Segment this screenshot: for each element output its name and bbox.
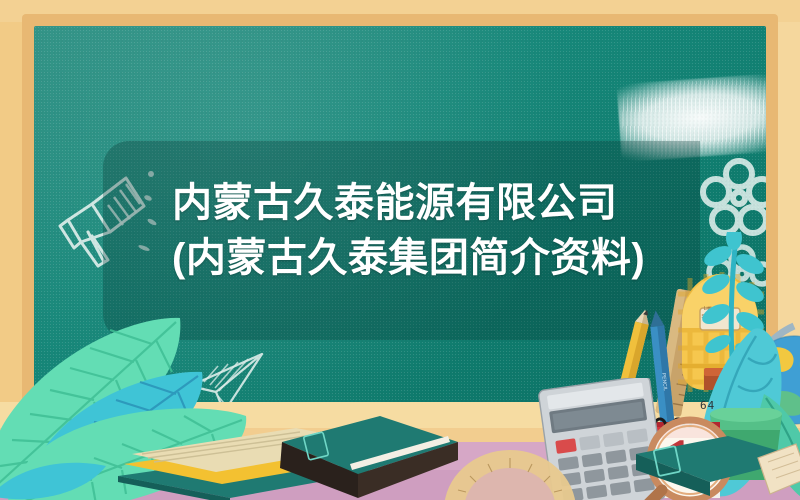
leaf-cyan-small-icon	[0, 456, 110, 500]
page-title: 内蒙古久泰能源有限公司(内蒙古久泰集团简介资料)	[172, 176, 652, 286]
calculator-display: 64	[700, 399, 715, 412]
book-dark-icon	[262, 412, 462, 500]
paper-scrap-icon	[752, 440, 800, 500]
banner-image: 内蒙古久泰能源有限公司(内蒙古久泰集团简介资料)	[0, 0, 800, 500]
